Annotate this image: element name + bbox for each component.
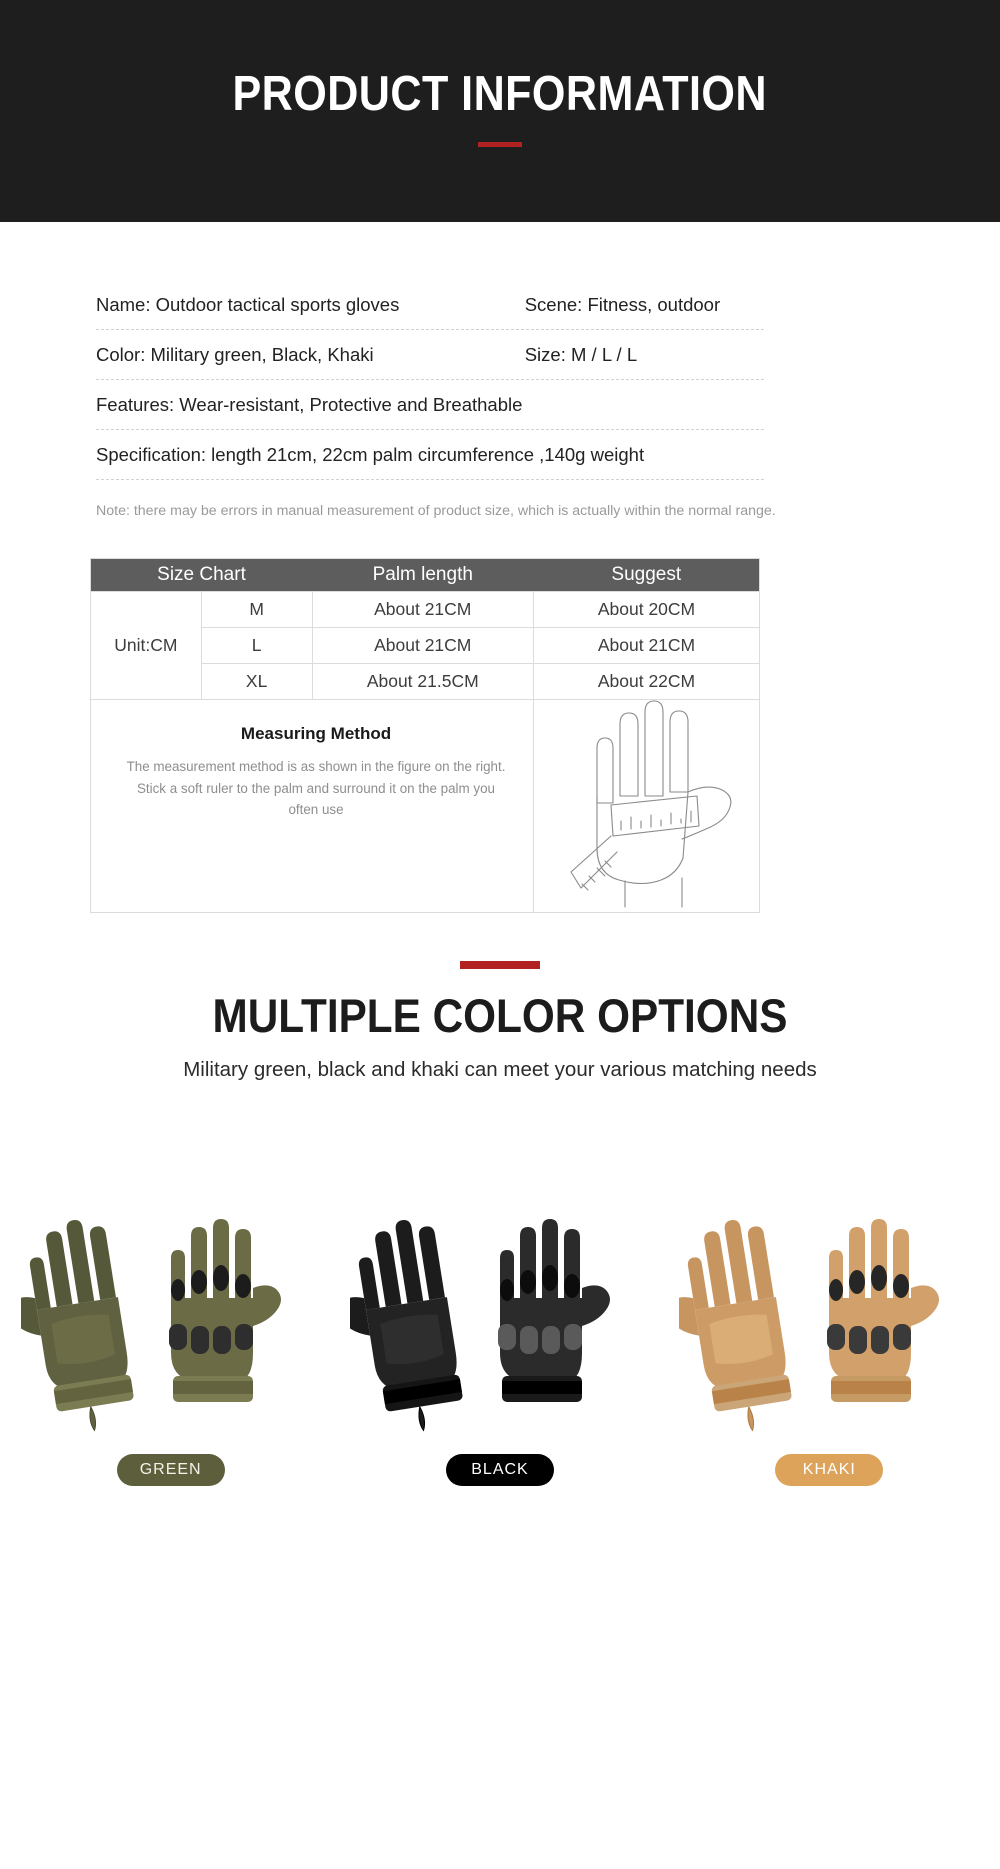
spec-row-name: Name: Outdoor tactical sports gloves Sce… [96, 280, 764, 330]
spec-row-features: Features: Wear-resistant, Protective and… [96, 380, 764, 430]
badge-slot-khaki: KHAKI [665, 1454, 994, 1486]
header-palm-length: Palm length [312, 559, 534, 592]
color-badge-green[interactable]: GREEN [117, 1454, 225, 1486]
badge-slot-green: GREEN [6, 1454, 335, 1486]
glove-pair-black-image [350, 1138, 650, 1438]
header-suggest: Suggest [534, 559, 760, 592]
spec-size-value: Size: M / L / L [525, 344, 764, 366]
size-chart-table: Size Chart Palm length Suggest Unit:CM M… [90, 558, 760, 913]
suggest-value: About 20CM [534, 592, 760, 628]
spec-specification-value: Specification: length 21cm, 22cm palm ci… [96, 444, 764, 466]
badge-slot-black: BLACK [335, 1454, 664, 1486]
hero-banner: PRODUCT INFORMATION [0, 0, 1000, 222]
glove-pair-green-image [21, 1138, 321, 1438]
palm-value: About 21.5CM [312, 664, 534, 700]
spec-color-value: Color: Military green, Black, Khaki [96, 344, 525, 366]
spec-list: Name: Outdoor tactical sports gloves Sce… [96, 280, 764, 480]
table-row: Unit:CM M About 21CM About 20CM [91, 592, 760, 628]
color-options-accent-rule [460, 961, 540, 969]
color-badge-row: GREEN BLACK KHAKI [0, 1454, 1000, 1486]
hero-accent-rule [478, 142, 522, 147]
suggest-value: About 22CM [534, 664, 760, 700]
size-value: M [201, 592, 312, 628]
hand-diagram-cell [534, 700, 760, 913]
product-spec-section: Name: Outdoor tactical sports gloves Sce… [0, 222, 1000, 522]
glove-gallery [0, 1118, 1000, 1438]
spec-row-color: Color: Military green, Black, Khaki Size… [96, 330, 764, 380]
suggest-value: About 21CM [534, 628, 760, 664]
spec-scene-value: Scene: Fitness, outdoor [525, 294, 764, 316]
spec-features-value: Features: Wear-resistant, Protective and… [96, 394, 764, 416]
palm-value: About 21CM [312, 628, 534, 664]
page-title: PRODUCT INFORMATION [233, 69, 768, 120]
color-options-subtitle: Military green, black and khaki can meet… [0, 1058, 1000, 1082]
glove-card-black[interactable] [335, 1118, 664, 1438]
hand-measuring-diagram-icon [549, 700, 745, 912]
measurement-note: Note: there may be errors in manual meas… [96, 500, 776, 522]
measuring-method-title: Measuring Method [125, 724, 507, 744]
table-header-row: Size Chart Palm length Suggest [91, 559, 760, 592]
spec-row-specification: Specification: length 21cm, 22cm palm ci… [96, 430, 764, 480]
measuring-method-row: Measuring Method The measurement method … [91, 700, 760, 913]
palm-value: About 21CM [312, 592, 534, 628]
color-options-title: MULTIPLE COLOR OPTIONS [50, 991, 950, 1042]
size-value: L [201, 628, 312, 664]
color-options-section: MULTIPLE COLOR OPTIONS Military green, b… [0, 961, 1000, 1486]
glove-pair-khaki-image [679, 1138, 979, 1438]
unit-label: Unit:CM [91, 592, 202, 700]
glove-card-khaki[interactable] [665, 1118, 994, 1438]
color-badge-black[interactable]: BLACK [446, 1454, 554, 1486]
color-badge-khaki[interactable]: KHAKI [775, 1454, 883, 1486]
glove-card-green[interactable] [6, 1118, 335, 1438]
size-value: XL [201, 664, 312, 700]
spec-name-value: Name: Outdoor tactical sports gloves [96, 294, 525, 316]
measuring-method-cell: Measuring Method The measurement method … [91, 700, 534, 913]
header-size-chart: Size Chart [91, 559, 313, 592]
measuring-method-body: The measurement method is as shown in th… [125, 756, 507, 821]
